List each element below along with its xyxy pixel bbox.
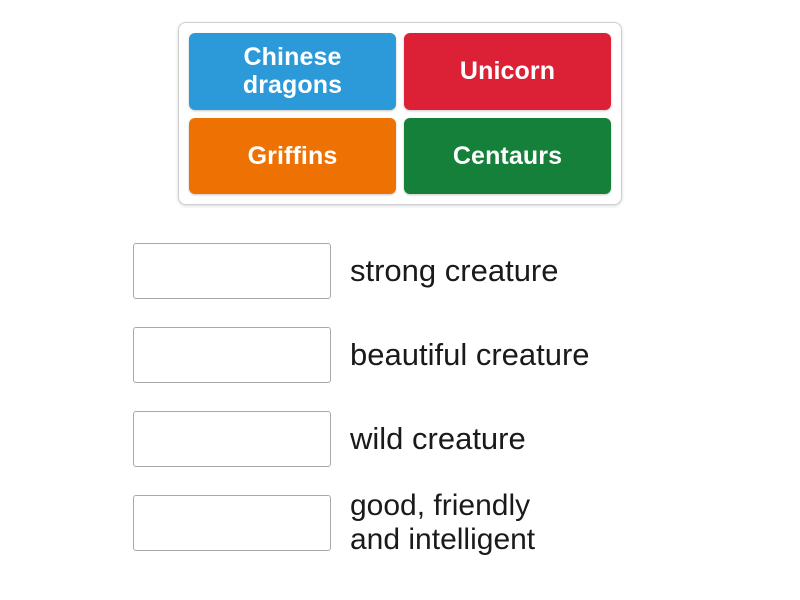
tile-unicorn[interactable]: Unicorn [404,33,611,110]
tile-chinese-dragons[interactable]: Chinese dragons [189,33,396,110]
tile-unicorn-label: Unicorn [460,57,555,85]
drop-slot-beautiful-creature[interactable] [133,327,331,383]
tile-grid: Chinese dragons Unicorn Griffins Centaur… [189,33,611,194]
answer-row-strong-creature: strong creature [133,243,590,299]
answer-row-good-friendly-intelligent: good, friendly and intelligent [133,495,590,551]
tile-chinese-dragons-label: Chinese dragons [243,43,342,99]
drop-slot-good-friendly-intelligent[interactable] [133,495,331,551]
answer-row-wild-creature: wild creature [133,411,590,467]
tile-centaurs-label: Centaurs [453,142,562,170]
answer-list: strong creature beautiful creature wild … [133,243,590,579]
answer-label-wild-creature: wild creature [350,420,526,457]
tile-griffins[interactable]: Griffins [189,118,396,195]
answer-row-beautiful-creature: beautiful creature [133,327,590,383]
answer-label-strong-creature: strong creature [350,252,559,289]
word-bank-panel: Chinese dragons Unicorn Griffins Centaur… [178,22,622,205]
tile-centaurs[interactable]: Centaurs [404,118,611,195]
answer-label-good-friendly-intelligent: good, friendly and intelligent [350,489,535,558]
drop-slot-strong-creature[interactable] [133,243,331,299]
answer-label-beautiful-creature: beautiful creature [350,336,590,373]
drop-slot-wild-creature[interactable] [133,411,331,467]
tile-griffins-label: Griffins [248,142,338,170]
